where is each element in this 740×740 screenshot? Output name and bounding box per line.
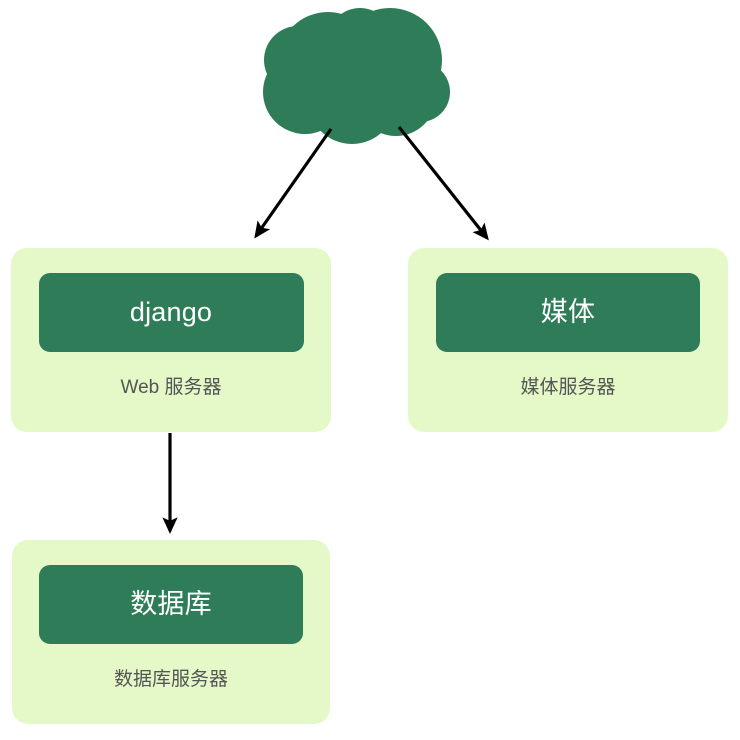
diagram-canvas: django Web 服务器 媒体 媒体服务器 数据库 数据库服务器	[0, 0, 740, 740]
node-database-server[interactable]: 数据库 数据库服务器	[12, 540, 330, 724]
edge-cloud-to-web	[256, 129, 331, 236]
node-database-server-box[interactable]: 数据库	[39, 565, 303, 644]
node-media-server-box[interactable]: 媒体	[436, 273, 700, 352]
node-media-server-box-label: 媒体	[541, 299, 595, 326]
node-media-server[interactable]: 媒体 媒体服务器	[408, 248, 728, 432]
node-media-server-caption: 媒体服务器	[520, 378, 615, 397]
cloud-icon	[263, 8, 450, 144]
edge-cloud-to-media	[399, 127, 487, 238]
node-web-server[interactable]: django Web 服务器	[11, 248, 331, 432]
node-web-server-box-label: django	[130, 299, 212, 326]
node-database-server-box-label: 数据库	[130, 591, 212, 618]
node-database-server-caption: 数据库服务器	[114, 670, 228, 689]
node-web-server-caption: Web 服务器	[120, 378, 221, 397]
node-web-server-box[interactable]: django	[39, 273, 304, 352]
